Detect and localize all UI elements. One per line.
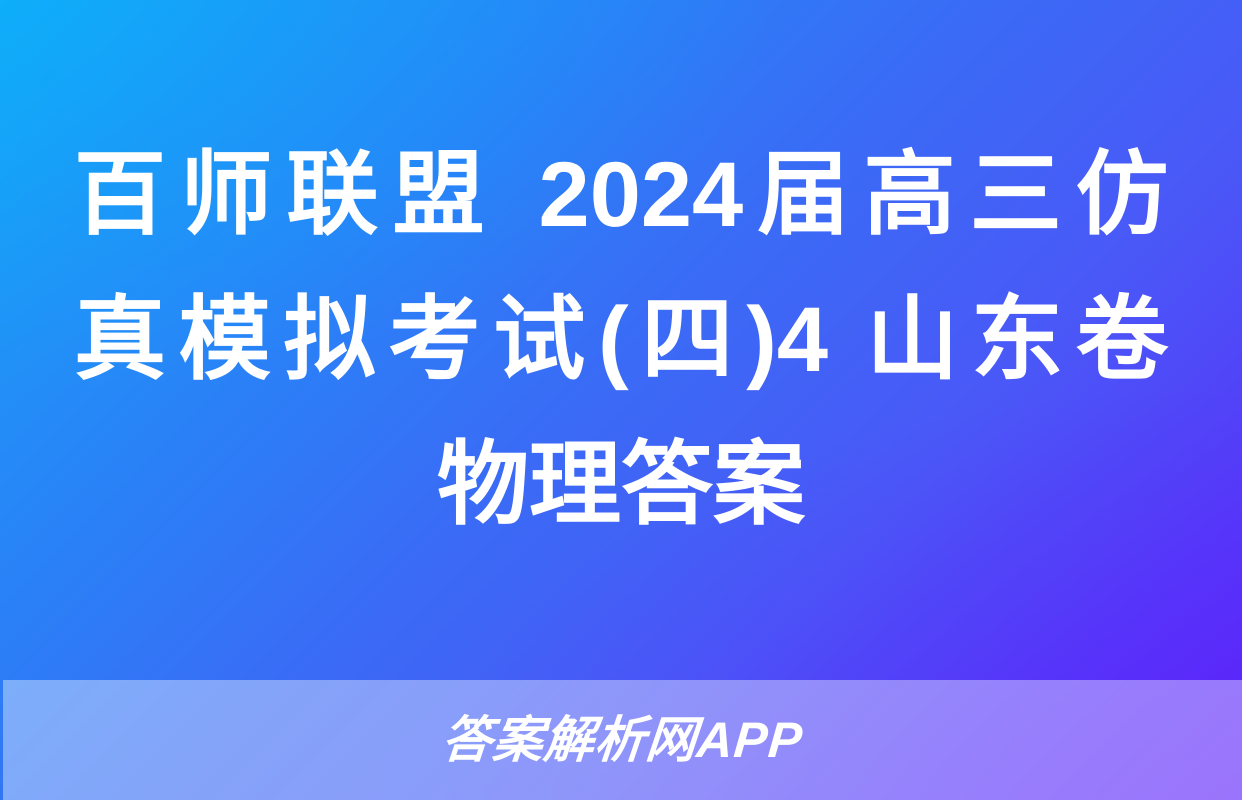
title-line-2: 真模拟考试(四)4 山东卷	[74, 268, 1168, 413]
page-title: 百师联盟 2024届高三仿 真模拟考试(四)4 山东卷 物理答案	[0, 0, 1242, 680]
title-line-1: 百师联盟 2024届高三仿	[74, 123, 1168, 268]
watermark-band: 答案解析网APP	[3, 680, 1242, 800]
watermark-label: 答案解析网APP	[440, 715, 805, 765]
promo-card: 百师联盟 2024届高三仿 真模拟考试(四)4 山东卷 物理答案 答案解析网AP…	[0, 0, 1242, 800]
title-line-3: 物理答案	[437, 413, 805, 558]
